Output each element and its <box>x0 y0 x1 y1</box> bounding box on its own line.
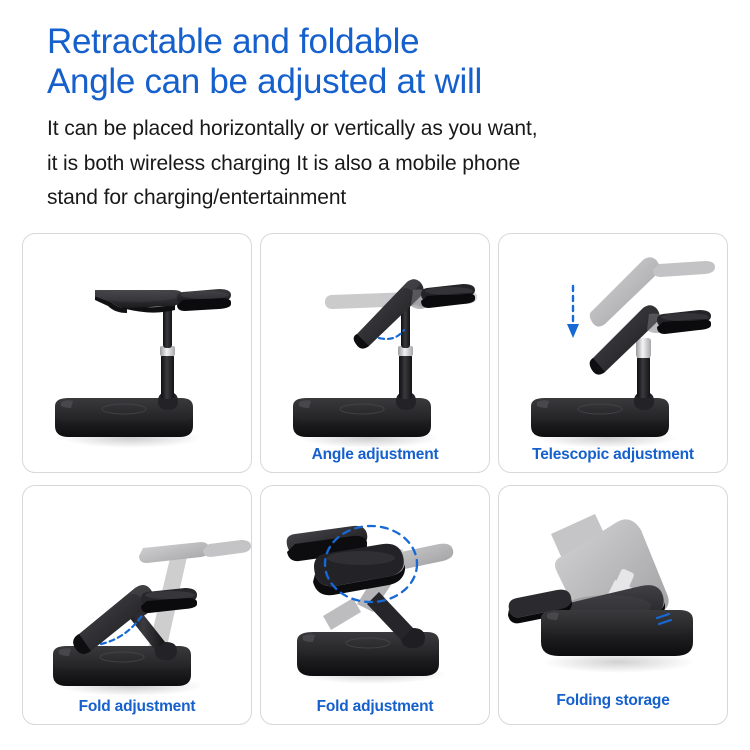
phone-head-rotated <box>287 526 405 595</box>
side-wing <box>421 284 475 308</box>
telescopic-arm-retracted <box>634 338 654 410</box>
side-wing <box>141 588 197 613</box>
product-illustration-fold-b <box>261 486 491 726</box>
subcopy-line-3: stand for charging/entertainment <box>47 181 717 216</box>
subcopy-line-1: It can be placed horizontally or vertica… <box>47 112 717 147</box>
telescopic-arm <box>158 306 178 410</box>
infographic-page: Retractable and foldable Angle can be ad… <box>0 0 750 750</box>
product-illustration-fold-a <box>23 486 253 726</box>
page-subcopy: It can be placed horizontally or vertica… <box>47 112 717 216</box>
product-illustration-angle <box>261 234 491 474</box>
feature-card: Fold adjustment <box>22 485 252 725</box>
side-wing <box>177 289 231 311</box>
chrome-collar <box>636 338 651 358</box>
feature-card: Fold adjustment <box>260 485 490 725</box>
product-illustration-storage <box>499 486 729 726</box>
page-headline: Retractable and foldable Angle can be ad… <box>47 22 707 102</box>
charging-base <box>541 610 693 656</box>
card-caption: Telescopic adjustment <box>499 446 727 464</box>
side-wing <box>657 310 711 334</box>
card-caption: Folding storage <box>499 692 727 710</box>
feature-card: Angle adjustment <box>260 233 490 473</box>
product-illustration-telescopic <box>499 234 729 474</box>
subcopy-line-2: it is both wireless charging It is also … <box>47 147 717 182</box>
card-caption: Fold adjustment <box>261 698 489 716</box>
arrow-down-icon <box>567 286 579 338</box>
feature-card-grid: Angle adjustment <box>22 233 728 725</box>
feature-card <box>22 233 252 473</box>
card-caption: Fold adjustment <box>23 698 251 716</box>
card-caption: Angle adjustment <box>261 446 489 464</box>
product-illustration-extended <box>23 234 253 474</box>
feature-card: Folding storage <box>498 485 728 725</box>
headline-line-2: Angle can be adjusted at will <box>47 62 707 102</box>
headline-line-1: Retractable and foldable <box>47 22 707 62</box>
phone-head <box>95 290 183 313</box>
feature-card: Telescopic adjustment <box>498 233 728 473</box>
